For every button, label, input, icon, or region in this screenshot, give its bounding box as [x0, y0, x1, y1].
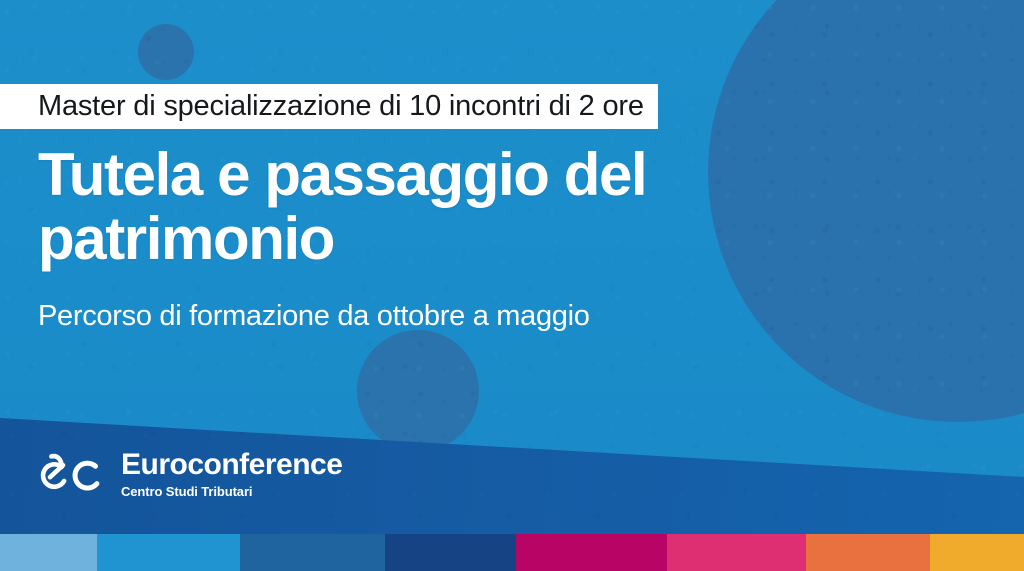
decorative-circle-small-icon	[357, 330, 479, 452]
logo-tagline: Centro Studi Tributari	[121, 485, 342, 498]
color-bar-swatch-orange	[806, 534, 930, 571]
promotional-poster: Master di specializzazione di 10 incontr…	[0, 0, 1024, 571]
page-title: Tutela e passaggio del patrimonio	[38, 143, 758, 270]
color-bar-swatch-gold	[930, 534, 1024, 571]
page-title-line-1: Tutela e passaggio del	[38, 141, 646, 208]
eyebrow-text: Master di specializzazione di 10 incontr…	[38, 92, 644, 121]
ec-monogram-icon	[38, 453, 108, 495]
color-bar-swatch-pink	[667, 534, 806, 571]
eyebrow-banner: Master di specializzazione di 10 incontr…	[0, 84, 658, 129]
page-subtitle: Percorso di formazione da ottobre a magg…	[38, 300, 590, 333]
logo-wordmark: Euroconference Centro Studi Tributari	[121, 450, 342, 498]
decorative-circle-tiny-icon	[138, 24, 194, 80]
color-bar-swatch-magenta	[516, 534, 667, 571]
brand-color-bar	[0, 534, 1024, 571]
color-bar-swatch-light-blue	[0, 534, 97, 571]
color-bar-swatch-navy	[385, 534, 516, 571]
color-bar-swatch-azure	[97, 534, 240, 571]
color-bar-swatch-steel-blue	[240, 534, 385, 571]
euroconference-logo: Euroconference Centro Studi Tributari	[38, 450, 342, 498]
logo-brand-name: Euroconference	[121, 450, 342, 480]
page-title-line-2: patrimonio	[38, 205, 334, 272]
